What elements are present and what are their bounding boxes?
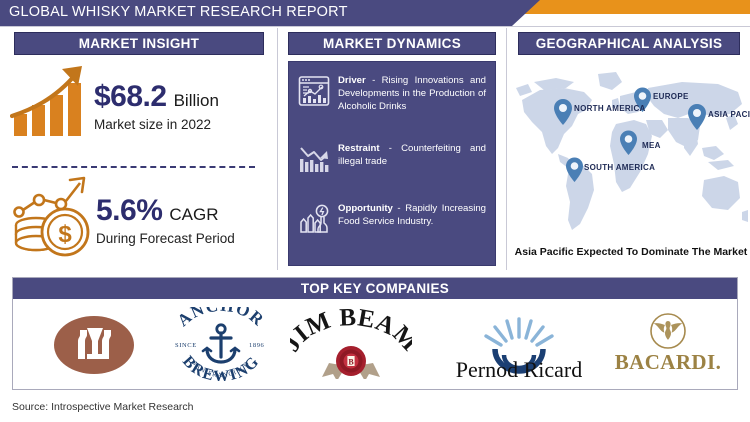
company-logo-row: ANCHOR BREWING SAN FRANCISCO SINCE 1896 [13, 300, 737, 389]
anchor-brewing-logo: ANCHOR BREWING SAN FRANCISCO SINCE 1896 [163, 307, 279, 381]
svg-text:1896: 1896 [249, 342, 265, 349]
column-separator-left [277, 28, 278, 270]
market-dynamics-banner: MARKET DYNAMICS [288, 32, 496, 55]
world-map: NORTH AMERICA EUROPE ASIA PACIFIC MEA SO… [512, 62, 750, 242]
bacardi-wordmark: BACARDI. [614, 350, 720, 374]
dynamics-restraint-separator: - [380, 143, 402, 154]
market-dynamics-panel: Driver - Rising Innovations and Developm… [288, 61, 496, 266]
market-size-stat: $68.2 Billion Market size in 2022 [10, 60, 219, 138]
cagr-value: 5.6% [96, 194, 162, 228]
cagr-subtitle: During Forecast Period [96, 231, 235, 246]
market-size-subtitle: Market size in 2022 [94, 117, 219, 132]
dynamics-driver-label: Driver [338, 75, 366, 86]
infographic-page: GLOBAL WHISKY MARKET RESEARCH REPORT MAR… [0, 0, 750, 422]
company-logo-jim-beam: JIM BEAM B [288, 308, 413, 380]
page-title: GLOBAL WHISKY MARKET RESEARCH REPORT [9, 4, 348, 20]
company-logo-pernod-ricard: Pernod Ricard [431, 306, 606, 384]
cagr-unit: CAGR [169, 205, 218, 225]
market-insight-banner: MARKET INSIGHT [14, 32, 264, 55]
column-separator-right [506, 28, 507, 270]
region-label-south-america: SOUTH AMERICA [584, 163, 655, 172]
svg-text:SINCE: SINCE [175, 342, 197, 349]
dynamics-restraint-label: Restraint [338, 143, 380, 154]
company-logo-whisky-brand [39, 310, 149, 380]
company-logo-anchor-brewing: ANCHOR BREWING SAN FRANCISCO SINCE 1896 [161, 306, 281, 382]
market-size-value: $68.2 [94, 80, 167, 114]
pernod-ricard-logo: Pernod Ricard [433, 307, 605, 383]
dynamics-driver-separator: - [366, 75, 382, 86]
dynamics-item-driver: Driver - Rising Innovations and Developm… [297, 74, 486, 114]
dynamics-restraint-text: Restraint - Counterfeiting and illegal t… [338, 142, 486, 168]
bar-chart-growth-icon [10, 60, 94, 138]
dynamics-item-opportunity: Opportunity - Rapidly Increasing Food Se… [297, 202, 486, 241]
region-label-mea: MEA [642, 141, 661, 150]
region-label-north-america: NORTH AMERICA [574, 104, 646, 113]
region-label-asia-pacific: ASIA PACIFIC [708, 110, 750, 119]
source-note: Source: Introspective Market Research [12, 401, 194, 413]
declining-bar-chart-icon [297, 142, 331, 181]
page-header: GLOBAL WHISKY MARKET RESEARCH REPORT [0, 0, 750, 26]
svg-text:Pernod Ricard: Pernod Ricard [455, 357, 581, 382]
dynamics-item-restraint: Restraint - Counterfeiting and illegal t… [297, 142, 486, 181]
dashboard-chart-icon [297, 74, 331, 113]
insight-dashed-divider [12, 166, 255, 168]
svg-text:B: B [348, 357, 354, 366]
dynamics-opportunity-separator: - [393, 203, 405, 214]
market-size-unit: Billion [174, 91, 219, 111]
company-logo-bacardi: BACARDI. [605, 308, 730, 382]
growth-opportunity-hand-icon [297, 202, 331, 241]
header-orange-accent [518, 0, 750, 14]
dynamics-opportunity-text: Opportunity - Rapidly Increasing Food Se… [338, 202, 486, 228]
whisky-brand-oval-logo [42, 312, 146, 378]
bacardi-logo: BACARDI. [607, 309, 729, 381]
cagr-stat: $ 5.6% CAGR During Forecast Period [8, 172, 235, 258]
svg-text:ANCHOR: ANCHOR [174, 307, 269, 330]
geographical-analysis-caption: Asia Pacific Expected To Dominate The Ma… [512, 246, 750, 258]
jim-beam-logo: JIM BEAM B [290, 309, 412, 379]
coin-stack-growth-icon: $ [8, 172, 96, 258]
geographical-analysis-banner: GEOGRAPHICAL ANALYSIS [518, 32, 740, 55]
top-key-companies-banner: TOP KEY COMPANIES [13, 278, 737, 299]
region-label-europe: EUROPE [653, 92, 689, 101]
dynamics-opportunity-label: Opportunity [338, 203, 393, 214]
svg-text:$: $ [58, 221, 72, 248]
header-divider [0, 26, 750, 27]
dynamics-driver-text: Driver - Rising Innovations and Developm… [338, 74, 486, 114]
